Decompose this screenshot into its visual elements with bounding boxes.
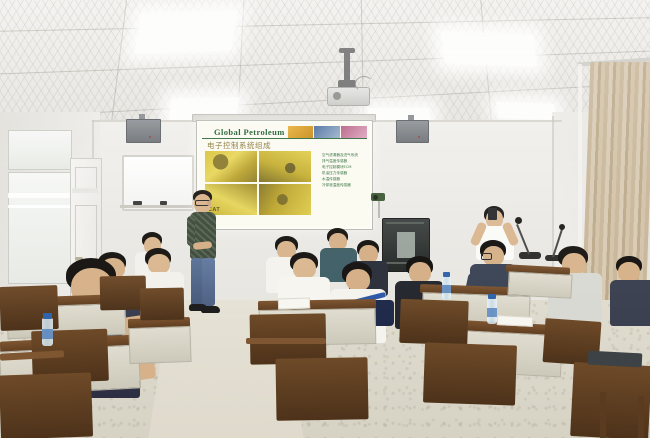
camera-lens-icon: [373, 195, 378, 200]
desk-front-panel: [128, 326, 191, 364]
projector-mount-rod: [344, 50, 350, 82]
chair-rail: [246, 338, 326, 344]
bottle-label: [42, 329, 53, 339]
microphone-head: [515, 217, 522, 224]
door-panel-mid: [75, 205, 97, 261]
upper-transom-window: [8, 130, 72, 170]
chair[interactable]: [0, 372, 93, 438]
desk-front-panel: [507, 271, 572, 298]
ear: [207, 201, 211, 206]
slide-photo: [205, 151, 257, 182]
head: [618, 262, 640, 282]
ceiling-light-panel: [134, 10, 238, 53]
whiteboard-marker[interactable]: [160, 201, 167, 205]
window-frosting-band: [8, 205, 70, 208]
bottle-label: [487, 308, 497, 317]
notebook-paper[interactable]: [497, 315, 533, 327]
slide-header-images: [288, 126, 367, 138]
chair-leg: [600, 392, 606, 438]
microphone-head: [559, 224, 565, 230]
slide-photo-grid: CAT: [205, 151, 311, 215]
smartphone[interactable]: [488, 208, 497, 220]
presentation-slide: Global Petroleum 电子控制系统组成 CAT 空气滤清器及进气系统: [199, 123, 370, 227]
slide-title: Global Petroleum: [202, 127, 285, 137]
slide-photo: [259, 151, 311, 182]
ceiling-light-panel: [496, 102, 557, 120]
projector-cable: [355, 76, 373, 92]
slide-bullet: 冷却液温度传感器: [322, 183, 366, 187]
head: [346, 269, 370, 291]
slide-photo: CAT: [205, 184, 257, 215]
notebook-paper[interactable]: [278, 297, 310, 309]
door-frosting-band: [72, 188, 98, 193]
ceiling-light-panel: [441, 31, 537, 66]
chair[interactable]: [399, 299, 468, 345]
projector-mount-plate: [339, 48, 355, 53]
wall-speaker-right: [396, 120, 429, 143]
whiteboard-eraser[interactable]: [133, 201, 142, 205]
whiteboard-marker-tray: [120, 205, 192, 208]
rack-slot: [386, 222, 424, 224]
slide-bullet: 排气温度传感器: [322, 159, 366, 163]
speaker-indicator-led: [149, 136, 151, 138]
slide-bullet: 空气滤清器及进气系统: [322, 153, 366, 157]
frosted-glass-window: [8, 172, 72, 284]
bottle-cap: [43, 313, 52, 319]
bottle-cap: [488, 294, 496, 299]
header-image-pipeline: [314, 126, 340, 138]
chair[interactable]: [275, 357, 368, 421]
presenter-shoe-right: [201, 306, 220, 313]
bottle-label: [442, 285, 451, 293]
slide-subtitle: 电子控制系统组成: [207, 140, 271, 151]
projector-lens: [333, 92, 341, 100]
chair[interactable]: [140, 288, 185, 321]
header-image-equipment: [341, 126, 367, 138]
torso: [610, 280, 650, 326]
presenter-leg-right: [202, 258, 215, 306]
slide-bullet: 机油压力传感器: [322, 171, 366, 175]
wall-speaker-left: [126, 119, 161, 143]
classroom-scene: Global Petroleum 电子控制系统组成 CAT 空气滤清器及进气系统: [0, 0, 650, 438]
bottle-cap: [443, 272, 450, 277]
head: [409, 262, 431, 283]
head: [148, 254, 170, 274]
slide-bullet-list: 空气滤清器及进气系统 排气温度传感器 电子控制模块ECM 机油压力传感器 水温传…: [322, 153, 366, 187]
eyeglasses: [481, 253, 492, 260]
presenter-arm-left: [187, 216, 195, 246]
chair[interactable]: [423, 342, 517, 405]
slide-photo: [259, 184, 311, 215]
chair-leg: [638, 396, 644, 438]
projection-screen[interactable]: Global Petroleum 电子控制系统组成 CAT 空气滤清器及进气系统: [196, 120, 373, 230]
window-frosting-band: [8, 193, 70, 198]
slide-bullet: 水温传感器: [322, 177, 366, 181]
head: [293, 258, 316, 279]
slide-header: Global Petroleum: [202, 125, 367, 139]
speaker-indicator-led: [418, 136, 420, 138]
header-image-refinery: [288, 126, 314, 138]
rack-window-panel: [397, 232, 415, 258]
slide-bullet: 电子控制模块ECM: [322, 165, 366, 169]
chair-seat[interactable]: [588, 351, 643, 368]
